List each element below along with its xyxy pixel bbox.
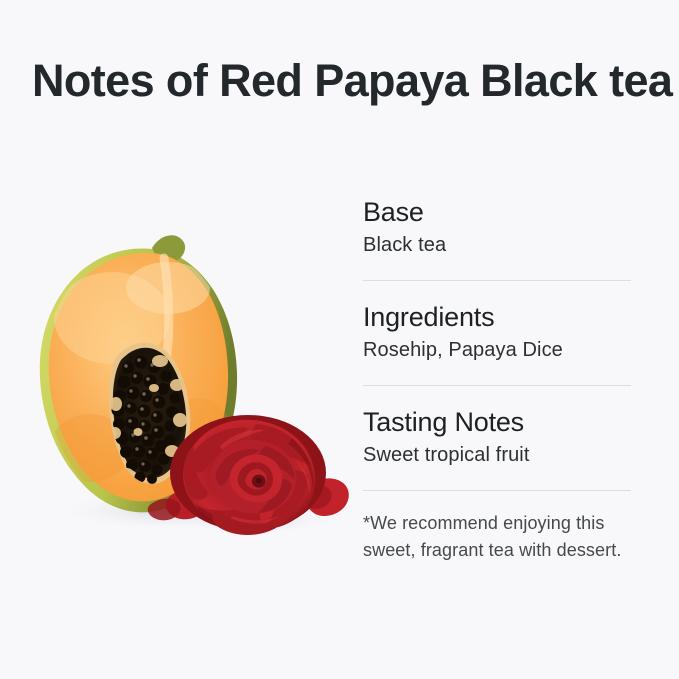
section-body-tasting-notes: Sweet tropical fruit (363, 442, 631, 469)
info-section-base: Base Black tea (363, 196, 631, 281)
section-spacer (363, 386, 631, 406)
footnote-text: *We recommend enjoying this sweet, fragr… (363, 510, 633, 564)
section-divider (363, 385, 631, 386)
section-heading-ingredients: Ingredients (363, 301, 631, 333)
produce-illustration (20, 228, 350, 548)
section-divider (363, 490, 631, 491)
section-heading-tasting-notes: Tasting Notes (363, 406, 631, 438)
section-body-base: Black tea (363, 232, 631, 259)
section-divider (363, 280, 631, 281)
info-section-ingredients: Ingredients Rosehip, Papaya Dice (363, 301, 631, 386)
papaya-and-rose-graphic (20, 228, 350, 548)
product-info-card: Notes of Red Papaya Black tea (0, 0, 679, 679)
info-section-tasting-notes: Tasting Notes Sweet tropical fruit (363, 406, 631, 491)
section-spacer (363, 281, 631, 301)
page-title: Notes of Red Papaya Black tea (32, 52, 672, 110)
section-heading-base: Base (363, 196, 631, 228)
section-body-ingredients: Rosehip, Papaya Dice (363, 337, 631, 364)
info-panel: Base Black tea Ingredients Rosehip, Papa… (363, 196, 631, 564)
